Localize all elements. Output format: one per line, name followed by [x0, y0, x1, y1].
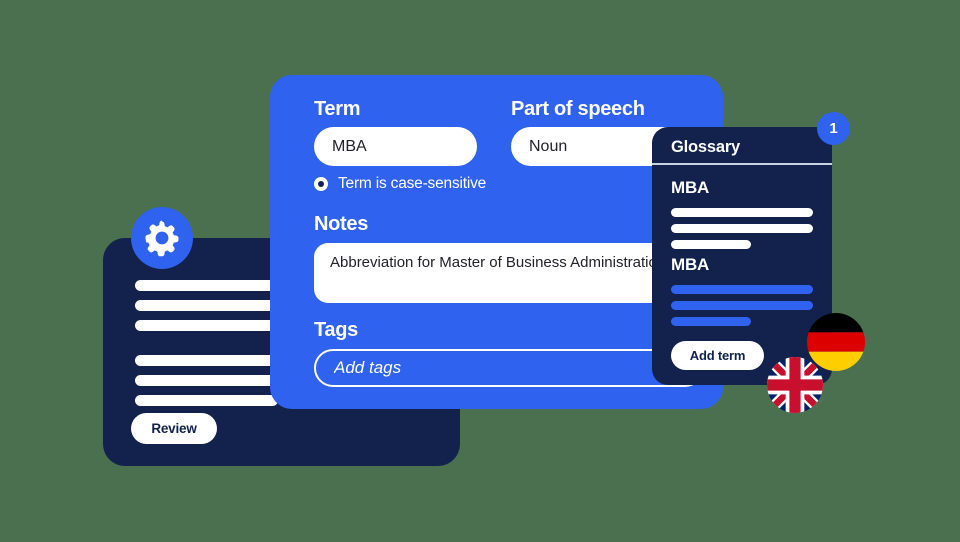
notes-label: Notes — [314, 213, 368, 236]
notification-count-badge[interactable]: 1 — [817, 112, 850, 145]
skeleton-line — [135, 395, 278, 406]
flag-gb-icon[interactable] — [767, 357, 823, 413]
skeleton-line — [671, 240, 751, 249]
glossary-term: MBA — [671, 255, 813, 275]
case-sensitive-option[interactable]: Term is case-sensitive — [314, 175, 486, 193]
skeleton-line — [671, 317, 751, 326]
case-sensitive-label: Term is case-sensitive — [338, 175, 486, 193]
skeleton-line — [671, 224, 813, 233]
skeleton-line — [671, 301, 813, 310]
glossary-entry[interactable]: MBA — [671, 178, 813, 256]
flag-de-icon[interactable] — [807, 313, 865, 371]
settings-gear-badge[interactable] — [131, 207, 193, 269]
review-button[interactable]: Review — [131, 413, 217, 444]
part-of-speech-label: Part of speech — [511, 98, 645, 121]
skeleton-line — [135, 320, 278, 331]
glossary-term: MBA — [671, 178, 813, 198]
illustration-canvas: Review Term Part of speech Term is case-… — [0, 0, 960, 542]
radio-selected-icon[interactable] — [314, 177, 328, 191]
term-label: Term — [314, 98, 360, 121]
add-term-button[interactable]: Add term — [671, 341, 764, 370]
glossary-entry[interactable]: MBA — [671, 255, 813, 333]
notes-textarea[interactable]: Abbreviation for Master of Business Admi… — [314, 243, 704, 303]
tags-label: Tags — [314, 319, 358, 342]
skeleton-line — [671, 285, 813, 294]
term-input[interactable] — [314, 127, 477, 166]
skeleton-line — [671, 208, 813, 217]
glossary-title: Glossary — [671, 138, 740, 157]
glossary-divider — [652, 163, 832, 165]
gear-icon — [131, 207, 193, 269]
glossary-panel: Glossary MBA MBA Add term — [652, 127, 832, 385]
tags-input[interactable] — [314, 349, 704, 387]
